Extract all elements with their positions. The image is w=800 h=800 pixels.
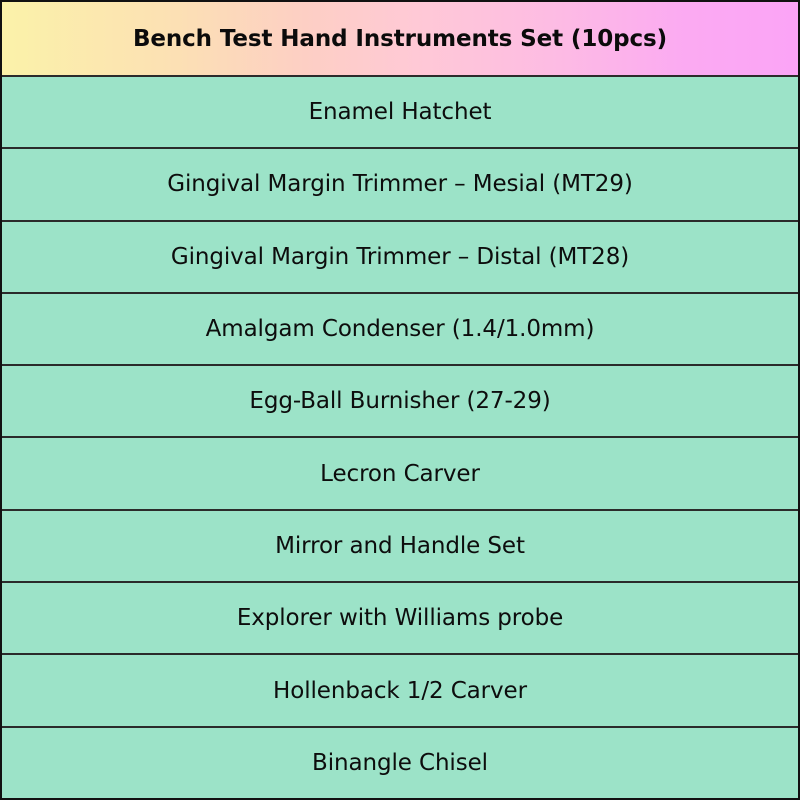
table-cell-label: Enamel Hatchet [309, 99, 492, 125]
table-row[interactable]: Lecron Carver [2, 438, 798, 510]
instrument-set-table: Bench Test Hand Instruments Set (10pcs) … [0, 0, 800, 800]
table-cell-label: Hollenback 1/2 Carver [273, 678, 527, 704]
table-title: Bench Test Hand Instruments Set (10pcs) [133, 26, 667, 52]
table-cell-label: Explorer with Williams probe [237, 605, 563, 631]
table-header-row: Bench Test Hand Instruments Set (10pcs) [2, 2, 798, 77]
table-row[interactable]: Hollenback 1/2 Carver [2, 655, 798, 727]
table-cell-label: Mirror and Handle Set [275, 533, 525, 559]
table-cell-label: Gingival Margin Trimmer – Distal (MT28) [171, 244, 629, 270]
table-cell-label: Egg-Ball Burnisher (27-29) [249, 388, 550, 414]
table-cell-label: Amalgam Condenser (1.4/1.0mm) [206, 316, 595, 342]
table-row[interactable]: Enamel Hatchet [2, 77, 798, 149]
table-cell-label: Lecron Carver [320, 461, 480, 487]
table-row[interactable]: Binangle Chisel [2, 728, 798, 798]
table-row[interactable]: Amalgam Condenser (1.4/1.0mm) [2, 294, 798, 366]
table-row[interactable]: Gingival Margin Trimmer – Distal (MT28) [2, 222, 798, 294]
table-row[interactable]: Mirror and Handle Set [2, 511, 798, 583]
table-row[interactable]: Gingival Margin Trimmer – Mesial (MT29) [2, 149, 798, 221]
table-row[interactable]: Explorer with Williams probe [2, 583, 798, 655]
table-cell-label: Gingival Margin Trimmer – Mesial (MT29) [167, 171, 632, 197]
table-body: Enamel Hatchet Gingival Margin Trimmer –… [2, 77, 798, 798]
table-row[interactable]: Egg-Ball Burnisher (27-29) [2, 366, 798, 438]
table-cell-label: Binangle Chisel [312, 750, 488, 776]
